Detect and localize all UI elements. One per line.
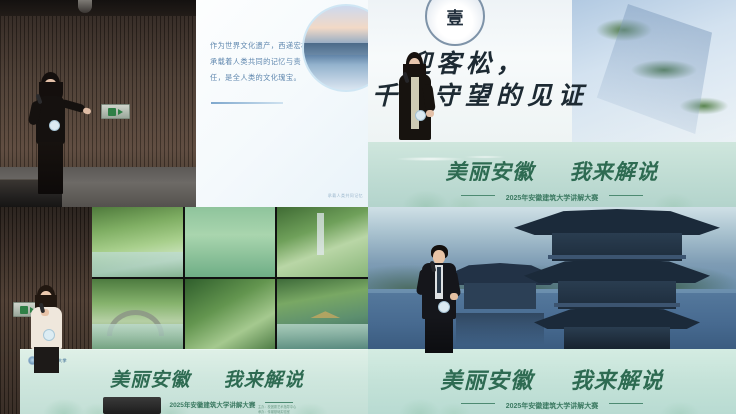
banner-rule-right <box>265 402 293 403</box>
pagoda-tower <box>508 207 726 349</box>
banner-rule-right <box>609 195 643 196</box>
photo-wall-item <box>185 279 276 349</box>
stage-banner: 美丽安徽 我来解说 2025年安徽建筑大学讲解大赛 <box>368 349 736 414</box>
panel-bottom-right[interactable]: 美丽安徽 我来解说 2025年安徽建筑大学讲解大赛 <box>368 207 736 414</box>
panel-top-left[interactable]: 作为世界文化遗产，西递宏村承载着人类共同的记忆与责任，是全人类的文化瑰宝。 承载… <box>0 0 368 207</box>
photo-wall-item <box>277 279 368 349</box>
banner-title-right: 我来解说 <box>223 370 304 391</box>
banner-subtitle: 2025年安徽建筑大学讲解大赛 <box>506 195 599 202</box>
speaker-skirt <box>38 142 63 194</box>
speaker-legs <box>425 317 453 353</box>
banner-rule-left <box>461 403 495 404</box>
pagoda-roof-tier-1 <box>514 209 720 235</box>
slide-body-text: 作为世界文化遗产，西递宏村承载着人类共同的记忆与责任，是全人类的文化瑰宝。 <box>210 38 312 87</box>
projection-slide: 作为世界文化遗产，西递宏村承载着人类共同的记忆与责任，是全人类的文化瑰宝。 承载… <box>196 0 368 207</box>
slide-corner-caption: 承载人类共同记忆 <box>328 193 363 199</box>
photo-collage: 作为世界文化遗产，西递宏村承载着人类共同的记忆与责任，是全人类的文化瑰宝。 承载… <box>0 0 736 414</box>
organizer-line-2: 承办：传媒基础实验室 <box>258 410 296 414</box>
stage-banner: 美丽安徽 我来解说 2025年安徽建筑大学讲解大赛 <box>368 142 736 207</box>
photo-wall-grid <box>92 207 368 349</box>
podium <box>103 397 161 414</box>
speaker-skirt <box>34 347 59 373</box>
photo-wall-item <box>92 207 183 277</box>
banner-title-left: 美丽安徽 <box>110 370 191 391</box>
contestant-badge <box>415 110 426 121</box>
slide-underline-rule <box>211 102 283 104</box>
banner-title-left: 美丽安徽 <box>446 160 535 184</box>
hall-ceiling <box>0 0 196 16</box>
speaker-tie <box>437 267 441 293</box>
photo-wall-item <box>277 207 368 277</box>
exit-arrow-glyph <box>118 109 123 115</box>
panel-top-right[interactable]: 壹 迎客松， 千年守望的见证 美丽安徽 我来解说 2025年安徽建筑大学讲解大赛 <box>368 0 736 207</box>
speaker-inner-top <box>411 77 419 129</box>
panel-bottom-left[interactable]: 安徽建筑大学 美丽安徽 我来解说 2025年安徽建筑大学讲解大赛 主办：校团委艺… <box>0 207 368 414</box>
exit-sign-icon <box>101 104 130 119</box>
pagoda-roof-tier-3 <box>534 307 700 329</box>
banner-title-left: 美丽安徽 <box>440 368 533 393</box>
banner-title-right: 我来解说 <box>570 368 663 393</box>
stage-banner: 安徽建筑大学 美丽安徽 我来解说 2025年安徽建筑大学讲解大赛 主办：校团委艺… <box>20 349 368 414</box>
photo-wall-item <box>185 207 276 277</box>
speaker-right-hand <box>426 110 434 117</box>
exit-person-glyph <box>108 108 116 116</box>
exit-person-glyph <box>20 306 28 314</box>
banner-rule-right <box>609 403 643 404</box>
contestant-badge <box>43 329 55 341</box>
banner-title-right: 我来解说 <box>569 160 658 184</box>
speaker-figure <box>28 285 68 365</box>
banner-rule-left <box>461 195 495 196</box>
pagoda-body-tier-3 <box>564 327 670 349</box>
pagoda-railing-1 <box>548 255 686 259</box>
contestant-badge <box>438 301 450 313</box>
photo-wall-item <box>92 279 183 349</box>
speaker-face <box>433 250 445 264</box>
pagoda-railing-2 <box>554 303 680 307</box>
banner-subtitle: 2025年安徽建筑大学讲解大赛 <box>169 402 255 409</box>
speaker-right-hand <box>450 293 458 300</box>
speaker-figure <box>420 245 464 353</box>
banner-subtitle: 2025年安徽建筑大学讲解大赛 <box>506 403 599 410</box>
pagoda-roof-tier-2 <box>524 259 710 283</box>
speaker-figure <box>396 52 438 148</box>
speaker-figure <box>30 72 72 194</box>
seal-character: 壹 <box>447 4 464 29</box>
chapter-seal-icon: 壹 <box>425 0 485 46</box>
contestant-badge <box>49 120 60 131</box>
